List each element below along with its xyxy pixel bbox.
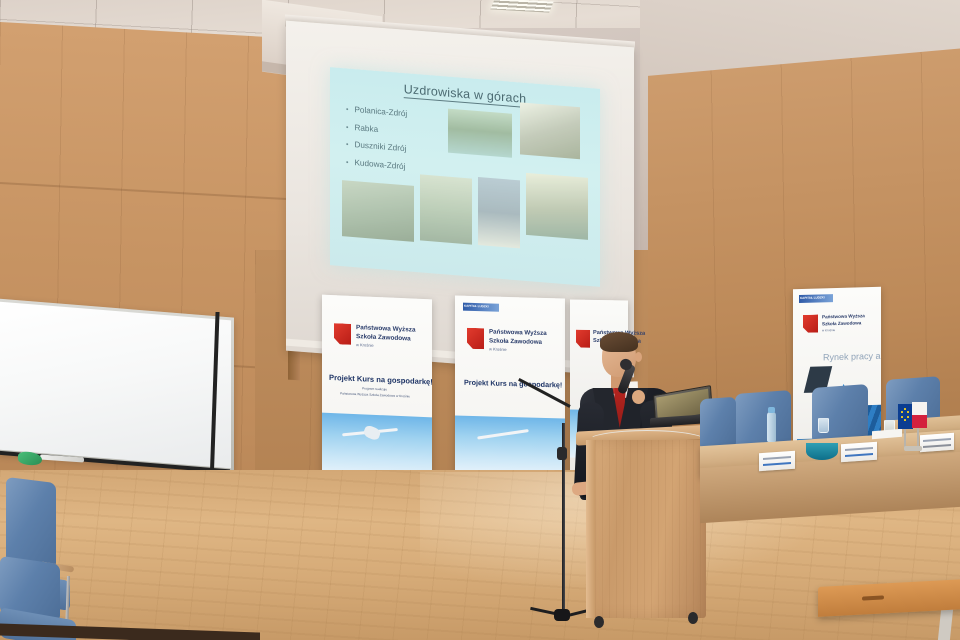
panel-chair[interactable]	[700, 398, 740, 450]
slide-title: Uzdrowiska w górach	[404, 82, 527, 108]
power-cable	[586, 430, 708, 453]
university-logo-icon	[467, 328, 484, 349]
poland-flag-white-band	[912, 402, 927, 415]
slide-bullet-item: Polanica-Zdrój	[346, 104, 407, 118]
banner-project-title: Projekt Kurs na gospodarkę!	[464, 378, 562, 390]
colonnade-building-photo	[342, 180, 414, 242]
glass-bowl[interactable]	[806, 443, 838, 460]
waterfall-park-photo	[448, 109, 512, 158]
speaker-hand-holding-mic	[632, 390, 645, 404]
whiteboard-surface[interactable]	[0, 302, 231, 469]
speaker-ear	[635, 352, 642, 362]
lectern-side-edge	[586, 440, 595, 618]
lectern-caster	[688, 612, 698, 624]
slide-bullet-item: Kudowa-Zdrój	[346, 157, 407, 171]
name-card	[841, 442, 877, 463]
banner-org-line1: Państwowa Wyższa	[822, 313, 865, 319]
banner-org-line3: w Krośnie	[489, 346, 507, 351]
speaker-hair	[600, 332, 638, 352]
bottle-cap	[768, 407, 775, 413]
banner-org-line2: Szkoła Zawodowa	[489, 337, 542, 345]
chair-back	[700, 397, 736, 452]
table-flags	[896, 398, 936, 452]
whiteboard[interactable]	[0, 298, 234, 471]
lectern-caster	[594, 616, 604, 628]
lectern[interactable]	[582, 428, 710, 633]
banner-project-title: Projekt Kurs na gospodarkę!	[329, 373, 433, 387]
banner-org-line3: w Krośnie	[822, 328, 835, 332]
eu-flag	[898, 404, 913, 429]
slide-bullet-item: Rabka	[346, 122, 407, 136]
water-bottle[interactable]	[767, 412, 776, 442]
banner-org-line2: Szkoła Zawodowa	[356, 333, 411, 342]
lecture-hall-photo: Uzdrowiska w górach Polanica-Zdrój Rabka…	[0, 0, 960, 640]
banner-top-logo-label: KAPITAŁ LUDZKI	[800, 295, 825, 300]
microphone-stand-base	[554, 609, 570, 621]
banner-org-line2: Szkoła Zawodowa	[822, 320, 861, 326]
flag-stand-base	[904, 446, 922, 451]
banner-org-line1: Państwowa Wyższa	[489, 328, 547, 337]
fountain-park-photo	[420, 174, 472, 244]
university-logo-icon	[803, 315, 818, 333]
lectern-front-panel	[588, 440, 706, 618]
banner-org-line3: w Krośnie	[356, 342, 374, 348]
banner-headline: Rynek pracy a	[823, 351, 881, 363]
chair-back	[812, 384, 868, 444]
banner-top-logo-label: KAPITAŁ LUDZKI	[464, 304, 489, 309]
winter-trees-photo	[478, 177, 520, 248]
drinking-glass[interactable]	[818, 418, 829, 433]
banner-subtitle-line1: Program realizuje	[362, 386, 387, 391]
slide-bullet-item: Duszniki Zdrój	[346, 139, 407, 153]
projected-slide: Uzdrowiska w górach Polanica-Zdrój Rabka…	[330, 67, 600, 287]
spa-pavilion-photo	[520, 102, 580, 159]
banner-org-line1: Państwowa Wyższa	[356, 324, 416, 334]
villa-garden-photo	[526, 173, 588, 240]
banner-subtitle-line2: Państwowa Wyższa Szkoła Zawodowa w Krośn…	[340, 391, 410, 398]
slide-bullet-list: Polanica-Zdrój Rabka Duszniki Zdrój Kudo…	[346, 104, 407, 179]
university-logo-icon	[334, 323, 351, 345]
poland-flag-red-band	[912, 415, 927, 428]
name-card	[759, 451, 795, 472]
